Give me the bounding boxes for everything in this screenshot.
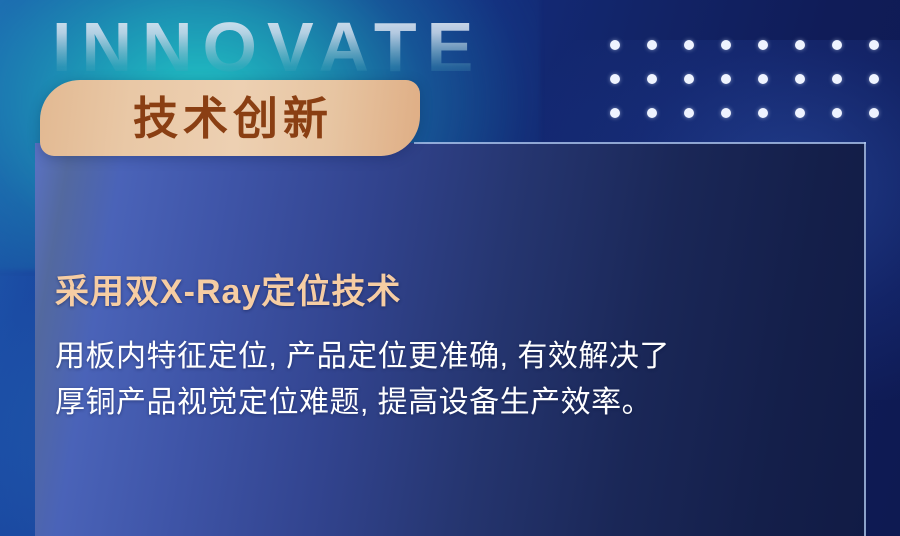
grid-dot: [832, 108, 842, 118]
grid-dot: [869, 74, 879, 84]
grid-dot: [869, 108, 879, 118]
grid-dot: [832, 40, 842, 50]
description-line: 用板内特征定位, 产品定位更准确, 有效解决了: [55, 334, 855, 380]
headline-title: 采用双X-Ray定位技术: [55, 272, 855, 312]
grid-dot: [832, 74, 842, 84]
grid-dot: [610, 108, 620, 118]
content-block: 采用双X-Ray定位技术 用板内特征定位, 产品定位更准确, 有效解决了 厚铜产…: [55, 272, 855, 425]
innovate-wordmark: INNOVATE: [52, 12, 483, 82]
panel-right-border-line: [864, 142, 866, 536]
grid-dot: [795, 40, 805, 50]
grid-dot: [684, 108, 694, 118]
grid-dot: [647, 108, 657, 118]
grid-dot: [795, 74, 805, 84]
grid-dot: [758, 40, 768, 50]
grid-dot: [869, 40, 879, 50]
section-badge-label: 技术创新: [127, 96, 333, 141]
grid-dot: [721, 74, 731, 84]
grid-dot: [684, 74, 694, 84]
grid-dot: [758, 108, 768, 118]
grid-dot: [647, 40, 657, 50]
description-line: 厚铜产品视觉定位难题, 提高设备生产效率。: [55, 380, 855, 426]
grid-dot: [610, 40, 620, 50]
grid-dot: [647, 74, 657, 84]
grid-dot: [721, 108, 731, 118]
description-paragraph: 用板内特征定位, 产品定位更准确, 有效解决了 厚铜产品视觉定位难题, 提高设备…: [55, 334, 855, 425]
grid-dot: [795, 108, 805, 118]
innovation-banner: INNOVATE 技术创新 采用双X-Ray定位技术 用板内特征定: [0, 0, 900, 536]
panel-top-border-line: [414, 142, 866, 144]
dot-grid-decoration: [610, 40, 900, 142]
grid-dot: [610, 74, 620, 84]
section-badge: 技术创新: [40, 80, 420, 156]
grid-dot: [721, 40, 731, 50]
grid-dot: [684, 40, 694, 50]
grid-dot: [758, 74, 768, 84]
